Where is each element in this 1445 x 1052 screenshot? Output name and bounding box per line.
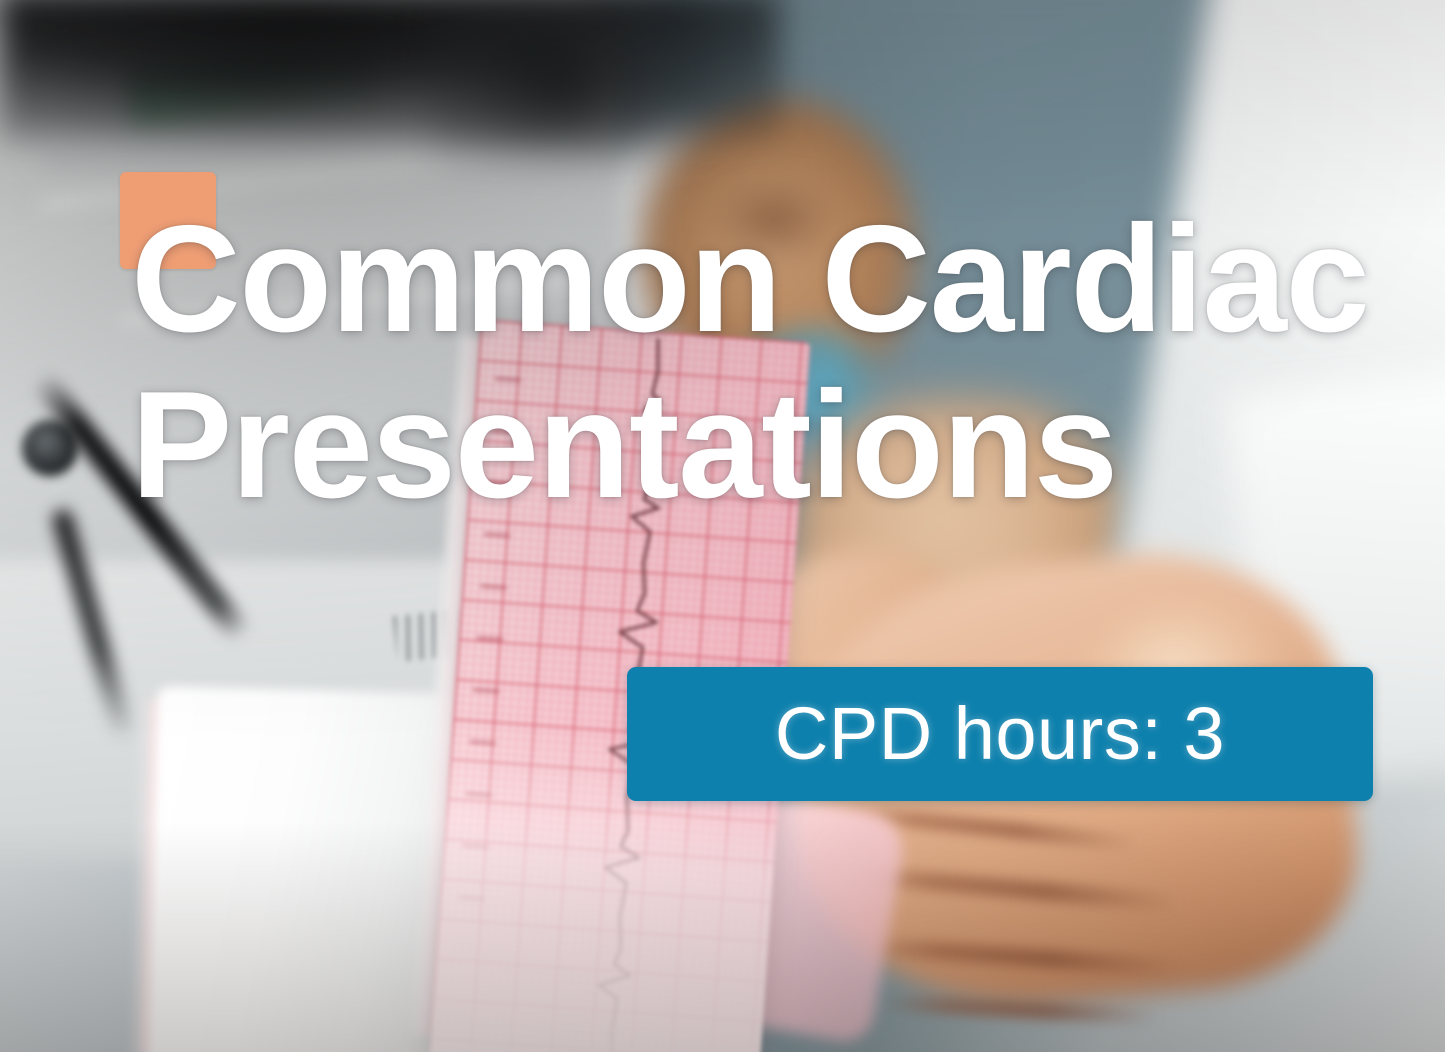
course-title-card: Common Cardiac Presentations CPD hours: … [0, 0, 1445, 1052]
banner-content: Common Cardiac Presentations CPD hours: … [0, 0, 1445, 1052]
page-title: Common Cardiac Presentations [131, 196, 1421, 528]
cpd-hours-badge: CPD hours: 3 [627, 667, 1373, 801]
title-block: Common Cardiac Presentations [131, 196, 1421, 528]
cpd-hours-badge-label: CPD hours: 3 [775, 694, 1225, 774]
